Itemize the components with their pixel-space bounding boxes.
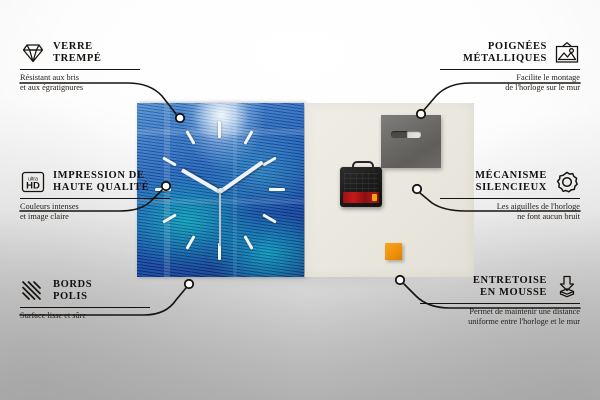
callout-divider xyxy=(440,69,580,70)
ultra-hd-icon: ultra HD xyxy=(20,170,46,194)
callout-description-line: et aux égratignures xyxy=(20,83,140,93)
callout-header: BORDS POLIS xyxy=(20,279,150,304)
callout-mecanisme-silencieux: MÉCANISME SILENCIEUX Les aiguilles de l'… xyxy=(440,170,580,222)
infographic-canvas: VERRE TREMPÉ Résistant aux bris et aux é… xyxy=(0,0,600,400)
callout-divider xyxy=(20,307,150,308)
callout-header: POIGNÉES MÉTALLIQUES xyxy=(440,41,580,66)
hour-tick xyxy=(185,235,195,249)
callout-title: IMPRESSION DE HAUTE QUALITÉ xyxy=(53,170,149,195)
callout-verre-trempe: VERRE TREMPÉ Résistant aux bris et aux é… xyxy=(20,41,140,93)
aa-battery xyxy=(343,192,379,203)
hour-tick xyxy=(243,235,253,249)
callout-header: ultra HD IMPRESSION DE HAUTE QUALITÉ xyxy=(20,170,170,195)
callout-title: BORDS POLIS xyxy=(53,279,92,304)
callout-poignees-metalliques: POIGNÉES MÉTALLIQUES Facilite le montage… xyxy=(440,41,580,93)
ultra-hd-icon-bottom-text: HD xyxy=(26,181,40,192)
callout-header: VERRE TREMPÉ xyxy=(20,41,140,66)
diamond-icon xyxy=(20,41,46,65)
hand-hub xyxy=(218,188,223,193)
foam-spacer-icon xyxy=(554,275,580,299)
callout-description-line: Surface lisse et sûre xyxy=(20,311,150,321)
callout-description-line: Permet de maintenir une distance xyxy=(420,307,580,317)
callout-bords-polis: BORDS POLIS Surface lisse et sûre xyxy=(20,279,150,321)
quartz-movement xyxy=(340,167,382,207)
callout-divider xyxy=(20,198,170,199)
callout-title: ENTRETOISE EN MOUSSE xyxy=(473,275,547,300)
callout-title: POIGNÉES MÉTALLIQUES xyxy=(463,41,547,66)
callout-description-line: Facilite le montage xyxy=(440,73,580,83)
callout-header: MÉCANISME SILENCIEUX xyxy=(440,170,580,195)
callout-description-line: Couleurs intenses xyxy=(20,202,170,212)
hour-hand xyxy=(181,168,221,193)
callout-entretoise-en-mousse: ENTRETOISE EN MOUSSE Permet de maintenir… xyxy=(420,275,580,327)
callout-header: ENTRETOISE EN MOUSSE xyxy=(420,275,580,300)
gear-icon xyxy=(554,170,580,194)
callout-title: MÉCANISME SILENCIEUX xyxy=(475,170,547,195)
foam-spacer xyxy=(385,243,402,260)
hour-tick xyxy=(218,121,221,138)
callout-description-line: ne font aucun bruit xyxy=(440,212,580,222)
product-image xyxy=(137,103,474,277)
callout-divider xyxy=(20,69,140,70)
callout-divider xyxy=(440,198,580,199)
minute-hand xyxy=(219,161,264,194)
keyhole-slot xyxy=(391,131,421,138)
hanger-hook-icon xyxy=(352,161,374,171)
metal-hanger-plate xyxy=(381,115,441,168)
callout-description-line: uniforme entre l'horloge et le mur xyxy=(420,317,580,327)
movement-texture xyxy=(344,173,378,193)
callout-description-line: Les aiguilles de l'horloge xyxy=(440,202,580,212)
hour-tick xyxy=(269,188,285,191)
hour-tick xyxy=(262,213,276,223)
callout-title: VERRE TREMPÉ xyxy=(53,41,102,66)
hour-tick xyxy=(262,156,276,166)
callout-impression-haute-qualite: ultra HD IMPRESSION DE HAUTE QUALITÉ Cou… xyxy=(20,170,170,222)
callout-divider xyxy=(420,303,580,304)
callout-description-line: et image claire xyxy=(20,212,170,222)
polished-edge-icon xyxy=(20,279,46,303)
callout-description-line: Résistant aux bris xyxy=(20,73,140,83)
frame-hanger-icon xyxy=(554,41,580,65)
second-hand xyxy=(219,190,221,246)
callout-description-line: de l'horloge sur le mur xyxy=(440,83,580,93)
